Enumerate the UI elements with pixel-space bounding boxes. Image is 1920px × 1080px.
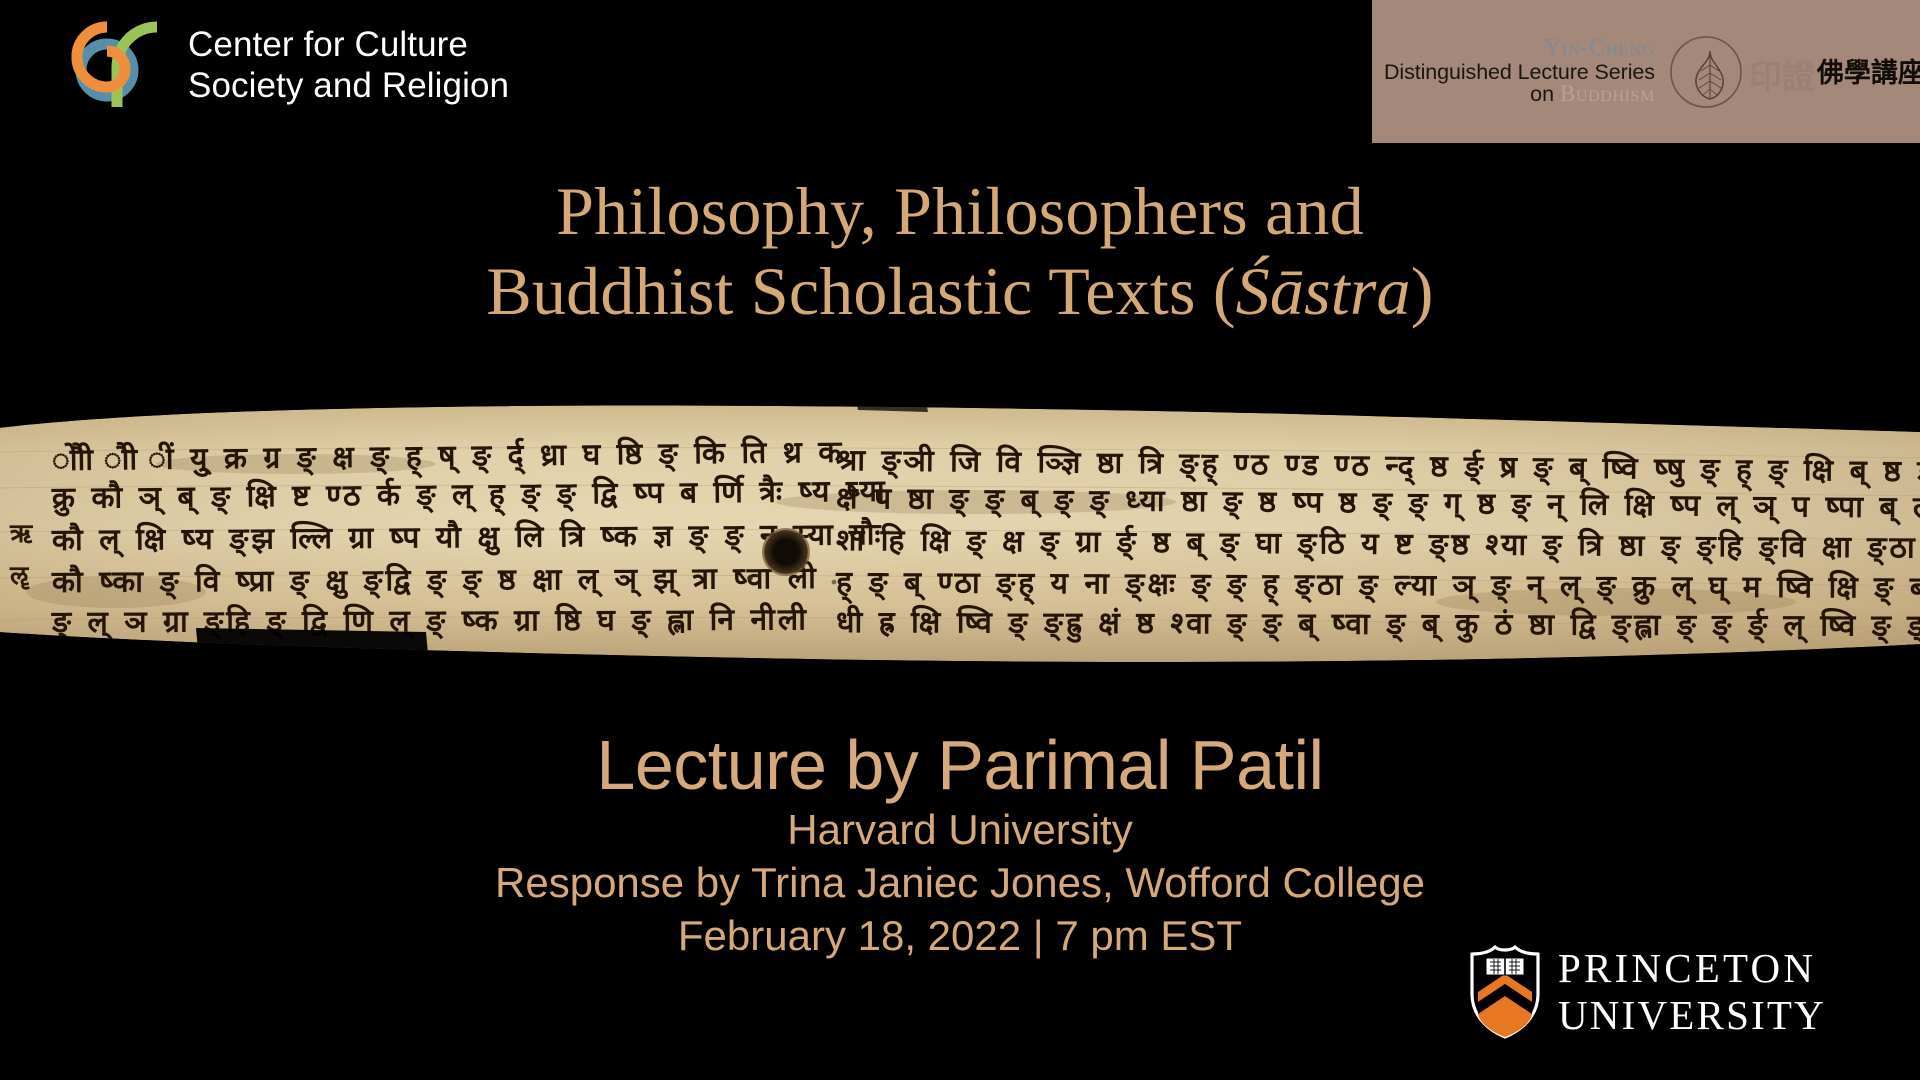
title-sastra-term: Śāstra	[1236, 253, 1411, 329]
princeton-shield-icon	[1468, 944, 1542, 1040]
palm-leaf-manuscript-image: ोौी ौी ीं यु् क्र ग्र ङ् क्ष ङ् ह् ष् ङ्…	[0, 378, 1920, 712]
title-line-1: Philosophy, Philosophers and	[0, 172, 1920, 252]
princeton-wordmark: PRINCETON UNIVERSITY	[1558, 948, 1826, 1036]
chinese-lecture-series: 佛學講座	[1817, 51, 1920, 92]
yin-cheng-banner-text: Yin-Cheng Distinguished Lecture Series o…	[1384, 36, 1661, 107]
yin-cheng-chinese-block: 印證 佛學講座 2021/22	[1749, 51, 1920, 92]
ccsr-spiral-logo-icon	[44, 18, 166, 114]
title-line-2: Buddhist Scholastic Texts (Śāstra)	[0, 252, 1920, 332]
svg-text:ङ् ल् ञ ग्रा ङ्हि ङ् द्वि णि ल: ङ् ल् ञ ग्रा ङ्हि ङ् द्वि णि ल् ङ् ष्क ग…	[51, 601, 809, 641]
svg-text:ऋ: ऋ	[9, 519, 34, 549]
bodhi-leaf-circle-icon	[1665, 31, 1747, 113]
svg-text:कौ ल् क्षि ष्य ङ्झ ल्लि ग्रा ष: कौ ल् क्षि ष्य ङ्झ ल्लि ग्रा ष्प यौ क्षु…	[51, 516, 884, 559]
lecture-poster: Center for Culture Society and Religion …	[0, 0, 1920, 1080]
yin-cheng-series-banner: Yin-Cheng Distinguished Lecture Series o…	[1372, 0, 1920, 143]
lecturer-affiliation: Harvard University	[0, 806, 1920, 853]
title-line-2-suffix: )	[1411, 253, 1434, 329]
chinese-yinzheng: 印證	[1749, 62, 1815, 92]
series-line-yin-cheng: Yin-Cheng	[1384, 36, 1655, 61]
princeton-university-logo: PRINCETON UNIVERSITY	[1468, 944, 1826, 1040]
title-line-2-prefix: Buddhist Scholastic Texts (	[486, 253, 1235, 329]
respondent-line: Response by Trina Janiec Jones, Wofford …	[0, 859, 1920, 906]
series-line-on-buddhism: on Buddhism	[1384, 82, 1655, 106]
svg-text:ॡ: ॡ	[9, 561, 30, 591]
princeton-line-1: PRINCETON	[1558, 948, 1826, 989]
svg-text:कौ ष्का ङ् वि ष्प्रा ङ् क्षु ङ: कौ ष्का ङ् वि ष्प्रा ङ् क्षु ङ्द्वि ङ् ङ…	[51, 560, 819, 601]
princeton-line-2: UNIVERSITY	[1558, 995, 1826, 1036]
chinese-char-yin: 印證	[1749, 62, 1815, 92]
series-on-word: on	[1530, 82, 1560, 106]
series-buddhism-word: Buddhism	[1560, 81, 1655, 106]
ccsr-logo: Center for Culture Society and Religion	[44, 18, 509, 114]
lecturer-name: Lecture by Parimal Patil	[0, 728, 1920, 802]
ccsr-logo-text: Center for Culture Society and Religion	[188, 25, 509, 107]
lecture-title: Philosophy, Philosophers and Buddhist Sc…	[0, 172, 1920, 331]
manuscript-illustration: ोौी ौी ीं यु् क्र ग्र ङ् क्ष ङ् ह् ष् ङ्…	[0, 392, 1920, 692]
series-line-distinguished: Distinguished Lecture Series	[1384, 61, 1655, 84]
lecture-details: Lecture by Parimal Patil Harvard Univers…	[0, 728, 1920, 959]
